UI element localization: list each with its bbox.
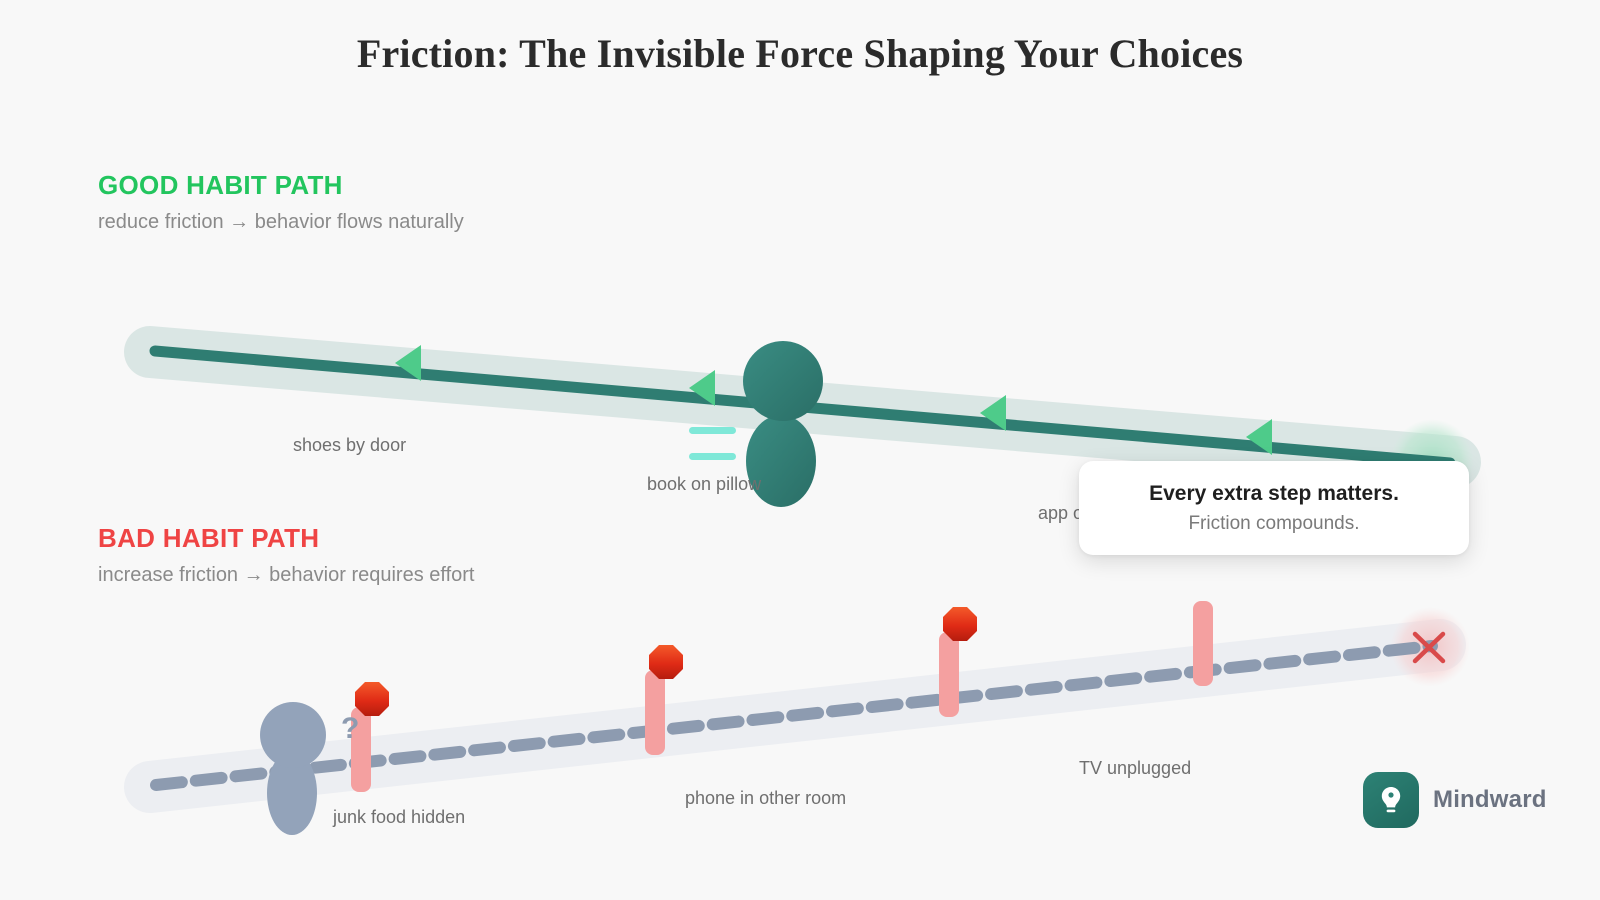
good-path-heading: GOOD HABIT PATH [98, 170, 343, 201]
stop-sign-icon [943, 607, 977, 641]
brand-logo: Mindward [1363, 772, 1547, 828]
good-path-label: book on pillow [647, 474, 761, 495]
low-friction-marker [689, 427, 736, 434]
callout-subtitle: Friction compounds. [1188, 513, 1359, 535]
friction-barrier [1193, 601, 1213, 686]
good-path-subheading: reduce friction → behavior flows natural… [98, 211, 464, 234]
bad-path-label: phone in other room [685, 788, 846, 809]
lightbulb-icon [1376, 784, 1406, 816]
stop-sign-icon [649, 645, 683, 679]
bad-path-label: junk food hidden [333, 807, 465, 828]
infographic-canvas: Friction: The Invisible Force Shaping Yo… [0, 0, 1600, 900]
callout-title: Every extra step matters. [1149, 482, 1399, 506]
brand-name: Mindward [1433, 786, 1547, 814]
bad-path-label: TV unplugged [1079, 758, 1191, 779]
low-friction-marker [689, 453, 736, 460]
good-path-label: shoes by door [293, 435, 406, 456]
brand-mark [1363, 772, 1419, 828]
stop-sign-icon [355, 682, 389, 716]
confusion-question-mark: ? [341, 712, 359, 746]
scene-graphics [0, 0, 1600, 900]
insight-callout-card: Every extra step matters. Friction compo… [1079, 461, 1469, 555]
bad-path-heading: BAD HABIT PATH [98, 523, 319, 554]
bad-path-subheading: increase friction → behavior requires ef… [98, 564, 474, 587]
